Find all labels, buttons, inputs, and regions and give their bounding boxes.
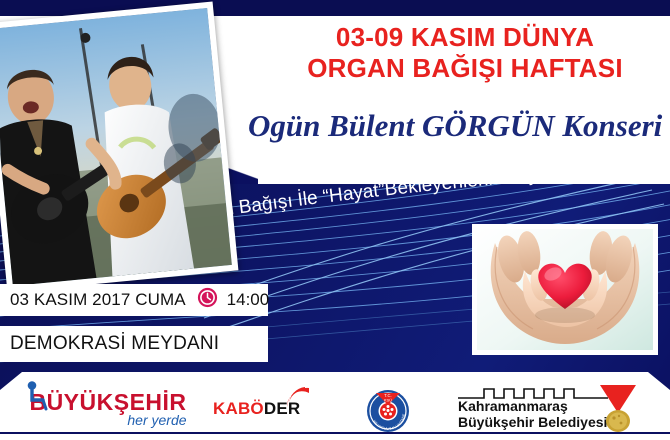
logo-kaboder-red: KABÖ (213, 399, 264, 418)
title-line-2: ORGAN BAĞIŞI HAFTASI (250, 53, 670, 84)
footer-logo-row: BÜYÜKŞEHİR her yerde KABÖDER (0, 384, 670, 434)
poster-canvas: 03-09 KASIM DÜNYA ORGAN BAĞIŞI HAFTASI O… (0, 0, 670, 440)
svg-text:KSÜ: KSÜ (384, 398, 392, 403)
hospital-seal-icon: T.C. KSÜ VE UYGULAMA HASTANESİ (363, 384, 413, 434)
event-venue: DEMOKRASİ MEYDANI (0, 333, 219, 355)
logo-kmaras-line1: Kahramanmaraş (458, 398, 607, 414)
logo-buyuksehir: BÜYÜKŞEHİR her yerde (0, 384, 210, 434)
logo-kaboder-black: DER (264, 399, 301, 418)
event-date-box: 03 KASIM 2017 CUMA 14:00 (0, 284, 268, 316)
wheelchair-accessibility-icon (19, 379, 53, 418)
title-line-1: 03-09 KASIM DÜNYA (250, 22, 670, 53)
event-date: 03 KASIM 2017 CUMA (0, 290, 186, 310)
logo-kahramanmaras-belediyesi: Kahramanmaraş Büyükşehir Belediyesi (436, 384, 656, 434)
logo-kaboder: KABÖDER (210, 384, 340, 434)
medal-icon (594, 383, 642, 438)
footer-band: BÜYÜKŞEHİR her yerde KABÖDER (0, 372, 670, 440)
clock-icon (197, 287, 218, 313)
page-title: 03-09 KASIM DÜNYA ORGAN BAĞIŞI HAFTASI (250, 22, 670, 84)
event-venue-box: DEMOKRASİ MEYDANI (0, 326, 268, 362)
event-time: 14:00 (227, 290, 270, 310)
hands-heart-photo (472, 224, 658, 355)
concert-photo (0, 2, 238, 293)
footer-rule (0, 432, 670, 434)
concert-subtitle: Ogün Bülent GÖRGÜN Konseri (248, 108, 670, 144)
logo-kmaras-line2: Büyükşehir Belediyesi (458, 414, 607, 430)
logo-ksu-hospital: T.C. KSÜ VE UYGULAMA HASTANESİ (340, 384, 436, 434)
